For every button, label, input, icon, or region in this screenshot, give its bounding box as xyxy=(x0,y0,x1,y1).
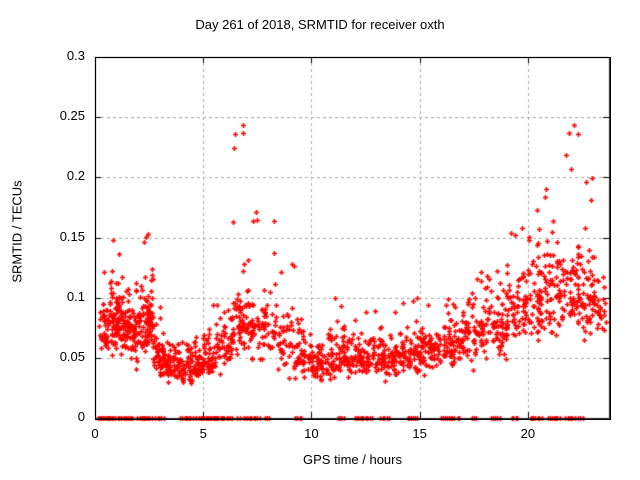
y-tick-label: 0.15 xyxy=(25,229,85,244)
y-tick-label: 0.25 xyxy=(25,108,85,123)
x-tick-label: 20 xyxy=(508,426,548,441)
plot-page: Day 261 of 2018, SRMTID for receiver oxt… xyxy=(0,0,640,480)
plot-frame xyxy=(95,57,611,420)
x-tick-label: 15 xyxy=(400,426,440,441)
y-tick-label: 0.05 xyxy=(25,349,85,364)
y-tick-label: 0.3 xyxy=(25,48,85,63)
x-tick-label: 5 xyxy=(183,426,223,441)
y-tick-label: 0 xyxy=(25,409,85,424)
y-tick-label: 0.1 xyxy=(25,289,85,304)
x-tick-label: 0 xyxy=(75,426,115,441)
x-tick-label: 10 xyxy=(291,426,331,441)
y-tick-label: 0.2 xyxy=(25,168,85,183)
